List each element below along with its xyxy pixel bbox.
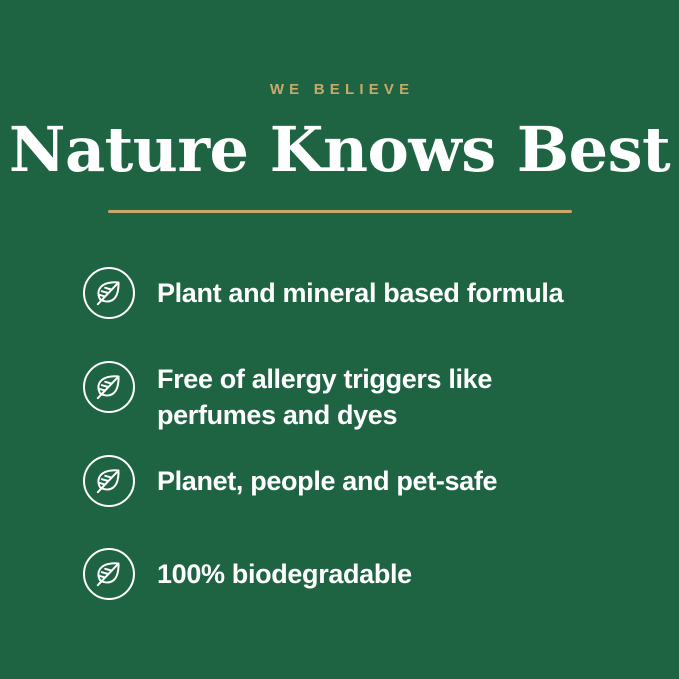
list-item: 100% biodegradable [82,547,642,601]
leaf-in-circle-icon [82,454,136,508]
list-item-label: Planet, people and pet-safe [157,454,642,499]
list-item-label: Plant and mineral based formula [157,266,642,311]
list-item-label: 100% biodegradable [157,547,642,592]
leaf-in-circle-icon [82,360,136,414]
list-item: Plant and mineral based formula [82,266,642,320]
leaf-in-circle-icon [82,266,136,320]
eyebrow-label: WE BELIEVE [0,80,679,100]
list-item: Planet, people and pet-safe [82,454,642,508]
list-item: Free of allergy triggers like perfumes a… [82,360,642,433]
promo-card: WE BELIEVE Nature Knows Best Plant and m… [0,0,679,679]
leaf-in-circle-icon [82,547,136,601]
page-title: Nature Knows Best [0,114,679,186]
header-block: WE BELIEVE Nature Knows Best [0,0,679,186]
gold-divider [108,210,572,213]
list-item-label: Free of allergy triggers like perfumes a… [157,360,642,433]
